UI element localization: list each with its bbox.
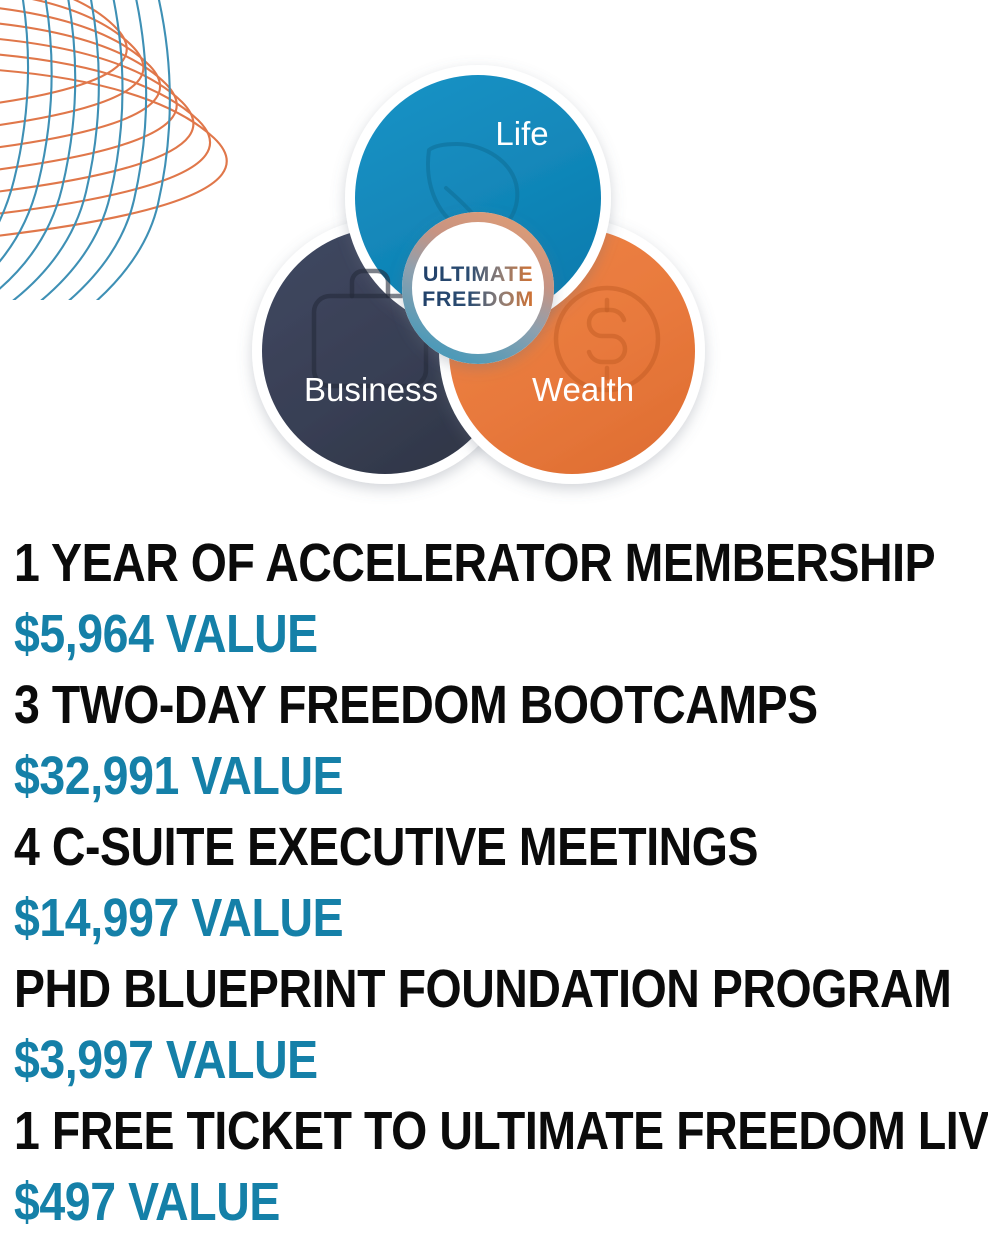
circle-label-business: Business bbox=[304, 371, 438, 408]
offer-item-5: 1 FREE TICKET TO ULTIMATE FREEDOM LIVE 2… bbox=[14, 1096, 848, 1167]
orange-arc-group bbox=[0, 0, 227, 250]
center-word-line2: FREEDOM bbox=[422, 287, 534, 311]
ultimate-freedom-logo: Life Business Wealth ULTIMATE FREEDOM bbox=[228, 38, 728, 508]
offer-value-stack: 1 YEAR OF ACCELERATOR MEMBERSHIP $5,964 … bbox=[14, 528, 984, 1238]
offer-item-4: PHD BLUEPRINT FOUNDATION PROGRAM bbox=[14, 954, 848, 1025]
offer-item-3: 4 C-SUITE EXECUTIVE MEETINGS bbox=[14, 812, 848, 883]
offer-value-1: $5,964 VALUE bbox=[14, 599, 848, 670]
circle-label-life: Life bbox=[495, 115, 548, 152]
blue-arc-group bbox=[0, 0, 170, 300]
offer-value-4: $3,997 VALUE bbox=[14, 1025, 848, 1096]
offer-value-3: $14,997 VALUE bbox=[14, 883, 848, 954]
center-emblem: ULTIMATE FREEDOM bbox=[402, 212, 554, 364]
center-word-line1: ULTIMATE bbox=[423, 262, 533, 286]
offer-stack-page: Life Business Wealth ULTIMATE FREEDOM 1 … bbox=[0, 0, 988, 1246]
offer-item-2: 3 TWO-DAY FREEDOM BOOTCAMPS bbox=[14, 670, 848, 741]
offer-value-5: $497 VALUE bbox=[14, 1167, 848, 1238]
circle-label-wealth: Wealth bbox=[532, 371, 634, 408]
offer-item-1: 1 YEAR OF ACCELERATOR MEMBERSHIP bbox=[14, 528, 848, 599]
offer-value-2: $32,991 VALUE bbox=[14, 741, 848, 812]
